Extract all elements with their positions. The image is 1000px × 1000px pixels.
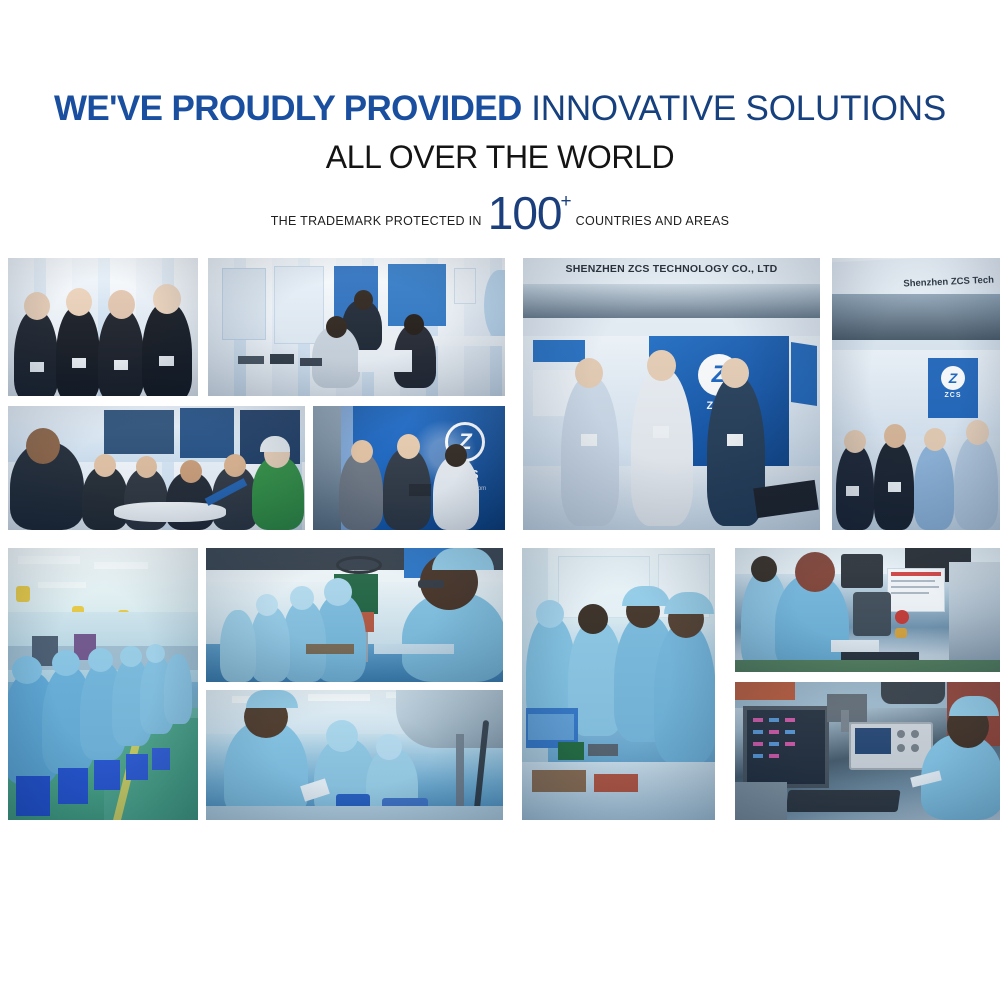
photo-figures: Z ZCS www.szzcs.com [313, 406, 505, 530]
gallery-photo-team-group-photo [8, 258, 198, 396]
photo-structure [735, 682, 1000, 820]
gallery-photo-booth-banner-photo: Z ZCS SHENZHEN ZCS TECHNOLOGY CO., LTD [523, 258, 820, 530]
gallery-photo-assembly-line-photo [8, 548, 198, 820]
photo-structure [735, 548, 1000, 672]
photo-structure [522, 548, 715, 820]
photo-structure [8, 548, 198, 820]
gallery-photo-customer-roundtable-photo [8, 406, 305, 530]
photo-structure [206, 690, 503, 820]
gallery-photo-machine-console-photo [735, 548, 1000, 672]
trademark-statement: THE TRADEMARK PROTECTED IN 100 + COUNTRI… [0, 186, 1000, 232]
headline-line-2: ALL OVER THE WORLD [0, 138, 1000, 176]
trademark-country-count: 100 [488, 190, 562, 236]
zcs-mark-letter: Z [941, 366, 965, 390]
photo-structure: Z ZCS [832, 258, 1000, 530]
trademark-prefix-text: THE TRADEMARK PROTECTED IN [271, 214, 482, 228]
gallery-photo-booth-hall-photo: Z ZCS Shenzhen ZCS Tech [832, 258, 1000, 530]
promo-banner-page: WE'VE PROUDLY PROVIDED INNOVATIVE SOLUTI… [0, 0, 1000, 1000]
photo-structure: Z ZCS [523, 258, 820, 530]
zcs-wordmark: ZCS [932, 392, 974, 399]
gallery-photo-booth-meeting-photo [208, 258, 505, 396]
zcs-logo-small: Z ZCS [932, 366, 974, 399]
headline-light-text: INNOVATIVE SOLUTIONS [522, 89, 946, 128]
gallery-photo-oscilloscope-test-photo [735, 682, 1000, 820]
gallery-photo-smt-operator-photo [206, 548, 503, 682]
photo-figures [208, 258, 505, 396]
photo-figures [8, 406, 305, 530]
gallery-photo-zcs-wall-demo-photo: Z ZCS www.szzcs.com [313, 406, 505, 530]
headline-line-1: WE'VE PROUDLY PROVIDED INNOVATIVE SOLUTI… [0, 88, 1000, 130]
trademark-suffix-text: COUNTRIES AND AREAS [576, 214, 730, 228]
headline-bold-text: WE'VE PROUDLY PROVIDED [54, 89, 522, 128]
booth-sign-text: SHENZHEN ZCS TECHNOLOGY CO., LTD [523, 263, 820, 275]
gallery-photo-inspection-bench-photo [206, 690, 503, 820]
trademark-plus-sign: + [561, 191, 572, 213]
photo-structure [206, 548, 503, 682]
headline-block: WE'VE PROUDLY PROVIDED INNOVATIVE SOLUTI… [0, 88, 1000, 232]
gallery-photo-qc-testing-photo [522, 548, 715, 820]
photo-figures [8, 258, 198, 396]
